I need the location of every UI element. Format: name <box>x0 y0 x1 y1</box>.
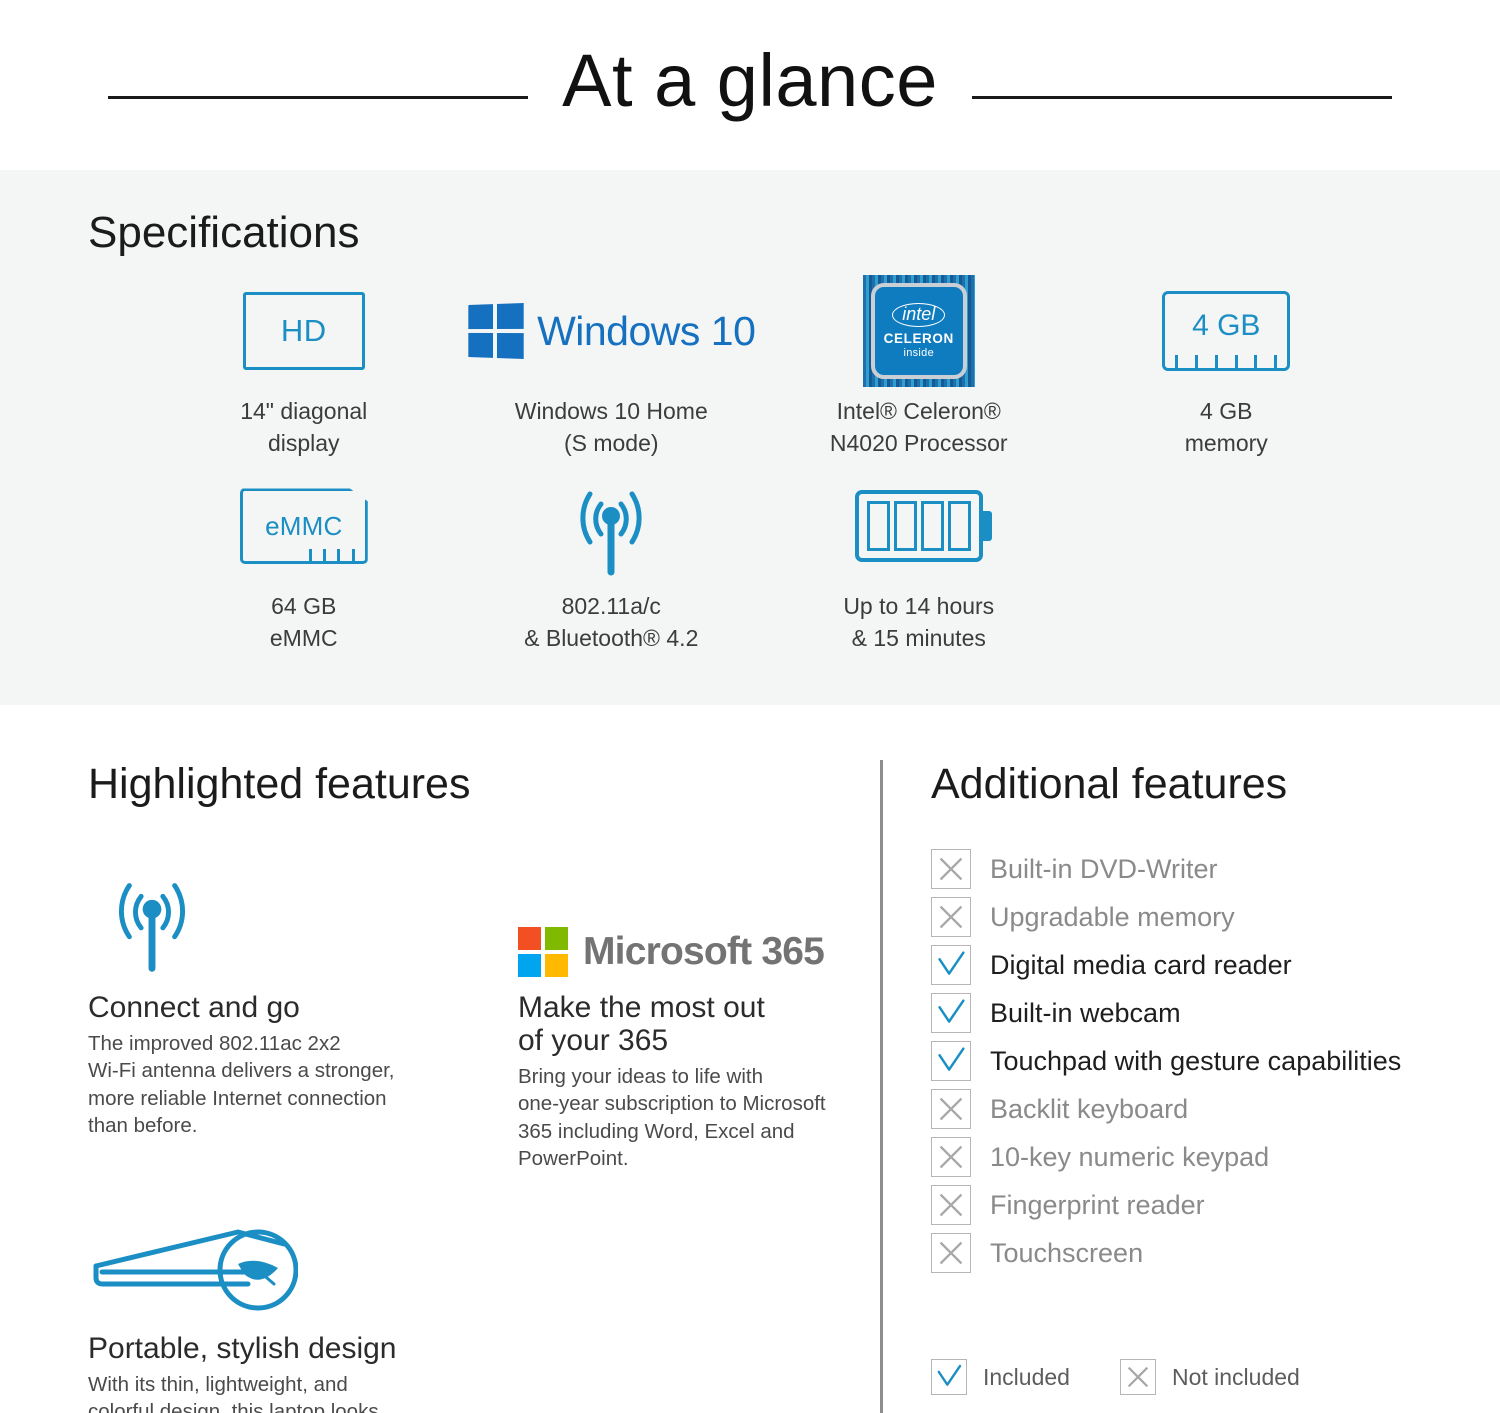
feature-body-portable-design: With its thin, lightweight, and colorful… <box>88 1371 418 1413</box>
highlighted-features-row: Connect and go The improved 802.11ac 2x2… <box>88 861 880 1172</box>
page-title: At a glance <box>562 44 938 126</box>
memory-badge-label: 4 GB <box>1192 309 1260 343</box>
highlighted-features-title: Highlighted features <box>88 760 880 809</box>
windows-flag-icon <box>468 303 523 359</box>
check-icon <box>931 945 971 985</box>
check-icon <box>931 1359 967 1395</box>
feature-body-microsoft-365: Bring your ideas to life with one-year s… <box>518 1063 848 1172</box>
spec-item-processor: intel CELERON inside Intel® Celeron® N40… <box>765 276 1073 459</box>
feature-connect-and-go: Connect and go The improved 802.11ac 2x2… <box>88 861 418 1172</box>
spec-label-processor: Intel® Celeron® N4020 Processor <box>830 396 1008 459</box>
specifications-grid: HD 14" diagonal display Windows 10 Windo… <box>0 276 1500 655</box>
spec-item-storage: eMMC 64 GB eMMC <box>150 471 458 654</box>
cross-icon <box>931 1089 971 1129</box>
battery-icon <box>855 471 983 581</box>
additional-features-title: Additional features <box>931 760 1500 809</box>
highlighted-features-column: Highlighted features Connect and go The … <box>0 760 880 1413</box>
emmc-badge-label: eMMC <box>265 511 342 542</box>
hd-display-icon: HD <box>243 276 365 386</box>
cross-icon <box>1120 1359 1156 1395</box>
legend: Included Not included <box>931 1359 1500 1395</box>
additional-features-list: Built-in DVD-Writer Upgradable memory Di… <box>931 849 1500 1273</box>
hd-badge-label: HD <box>243 292 365 370</box>
feature-label: Fingerprint reader <box>990 1192 1205 1219</box>
list-item: Touchscreen <box>931 1233 1500 1273</box>
feature-label: Built-in webcam <box>990 1000 1181 1027</box>
windows-wordmark: Windows 10 <box>537 308 755 355</box>
check-icon <box>931 1041 971 1081</box>
cross-icon <box>931 849 971 889</box>
wifi-antenna-icon <box>546 471 676 581</box>
feature-label: Digital media card reader <box>990 952 1292 979</box>
spec-label-display: 14" diagonal display <box>240 396 367 459</box>
spec-label-wireless: 802.11a/c & Bluetooth® 4.2 <box>524 591 698 654</box>
feature-portable-design: Portable, stylish design With its thin, … <box>88 1202 418 1413</box>
feature-label: 10-key numeric keypad <box>990 1144 1269 1171</box>
laptop-feather-icon <box>88 1202 418 1318</box>
spec-item-memory: 4 GB 4 GB memory <box>1073 276 1381 459</box>
memory-module-icon: 4 GB <box>1162 276 1290 386</box>
specifications-section: Specifications HD 14" diagonal display W… <box>0 170 1500 705</box>
cross-icon <box>931 1185 971 1225</box>
list-item: Digital media card reader <box>931 945 1500 985</box>
microsoft-365-logo-icon: Microsoft 365 <box>518 861 848 977</box>
spec-item-os: Windows 10 Windows 10 Home (S mode) <box>458 276 766 459</box>
spec-label-storage: 64 GB eMMC <box>270 591 338 654</box>
additional-features-column: Additional features Built-in DVD-Writer … <box>880 760 1500 1413</box>
list-item: Touchpad with gesture capabilities <box>931 1041 1500 1081</box>
cross-icon <box>931 1137 971 1177</box>
list-item: Backlit keyboard <box>931 1089 1500 1129</box>
list-item: 10-key numeric keypad <box>931 1137 1500 1177</box>
wifi-antenna-icon <box>88 861 418 977</box>
feature-body-connect-and-go: The improved 802.11ac 2x2 Wi-Fi antenna … <box>88 1030 418 1139</box>
spec-label-battery: Up to 14 hours & 15 minutes <box>843 591 994 654</box>
legend-label-not-included: Not included <box>1172 1364 1300 1391</box>
microsoft-365-wordmark: Microsoft 365 <box>583 930 824 974</box>
windows-10-logo-icon: Windows 10 <box>467 276 755 386</box>
feature-label: Touchpad with gesture capabilities <box>990 1048 1401 1075</box>
legend-label-included: Included <box>983 1364 1070 1391</box>
emmc-storage-icon: eMMC <box>240 471 368 581</box>
header-rule-right <box>972 96 1392 99</box>
spec-grid-spacer <box>1073 471 1381 654</box>
header-rule-left <box>108 96 528 99</box>
cross-icon <box>931 897 971 937</box>
spec-item-battery: Up to 14 hours & 15 minutes <box>765 471 1073 654</box>
memory-pins <box>1175 355 1277 368</box>
list-item: Upgradable memory <box>931 897 1500 937</box>
intel-brand-label: CELERON <box>884 331 954 346</box>
list-item: Fingerprint reader <box>931 1185 1500 1225</box>
list-item: Built-in DVD-Writer <box>931 849 1500 889</box>
cross-icon <box>931 1233 971 1273</box>
intel-celeron-chip-icon: intel CELERON inside <box>863 276 975 386</box>
feature-microsoft-365: Microsoft 365 Make the most out of your … <box>518 861 848 1172</box>
page-header: At a glance <box>0 0 1500 170</box>
feature-heading-connect-and-go: Connect and go <box>88 991 418 1024</box>
intel-wordmark: intel <box>892 303 945 327</box>
emmc-pins <box>309 549 355 561</box>
spec-item-display: HD 14" diagonal display <box>150 276 458 459</box>
microsoft-squares-icon <box>518 927 568 977</box>
specifications-title: Specifications <box>88 208 1500 258</box>
spec-item-wireless: 802.11a/c & Bluetooth® 4.2 <box>458 471 766 654</box>
lower-section: Highlighted features Connect and go The … <box>0 705 1500 1413</box>
spec-label-memory: 4 GB memory <box>1185 396 1268 459</box>
intel-inside-label: inside <box>903 347 934 359</box>
feature-label: Backlit keyboard <box>990 1096 1188 1123</box>
feature-label: Built-in DVD-Writer <box>990 856 1218 883</box>
list-item: Built-in webcam <box>931 993 1500 1033</box>
check-icon <box>931 993 971 1033</box>
feature-label: Touchscreen <box>990 1240 1143 1267</box>
feature-label: Upgradable memory <box>990 904 1235 931</box>
feature-heading-microsoft-365: Make the most out of your 365 <box>518 991 848 1057</box>
spec-label-os: Windows 10 Home (S mode) <box>515 396 708 459</box>
feature-heading-portable-design: Portable, stylish design <box>88 1332 418 1365</box>
